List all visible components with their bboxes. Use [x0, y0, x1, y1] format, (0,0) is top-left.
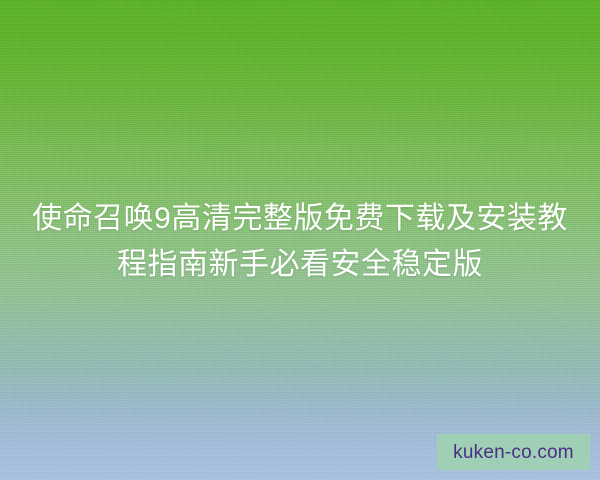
watermark-site-label: kuken-co.com: [453, 443, 574, 462]
page-title: 使命召唤9高清完整版免费下载及安装教 程指南新手必看安全稳定版: [16, 196, 584, 288]
headline-block: 使命召唤9高清完整版免费下载及安装教 程指南新手必看安全稳定版: [0, 196, 600, 288]
watermark-badge: kuken-co.com: [437, 434, 590, 470]
cover-image-canvas: 使命召唤9高清完整版免费下载及安装教 程指南新手必看安全稳定版 kuken-co…: [0, 0, 600, 480]
